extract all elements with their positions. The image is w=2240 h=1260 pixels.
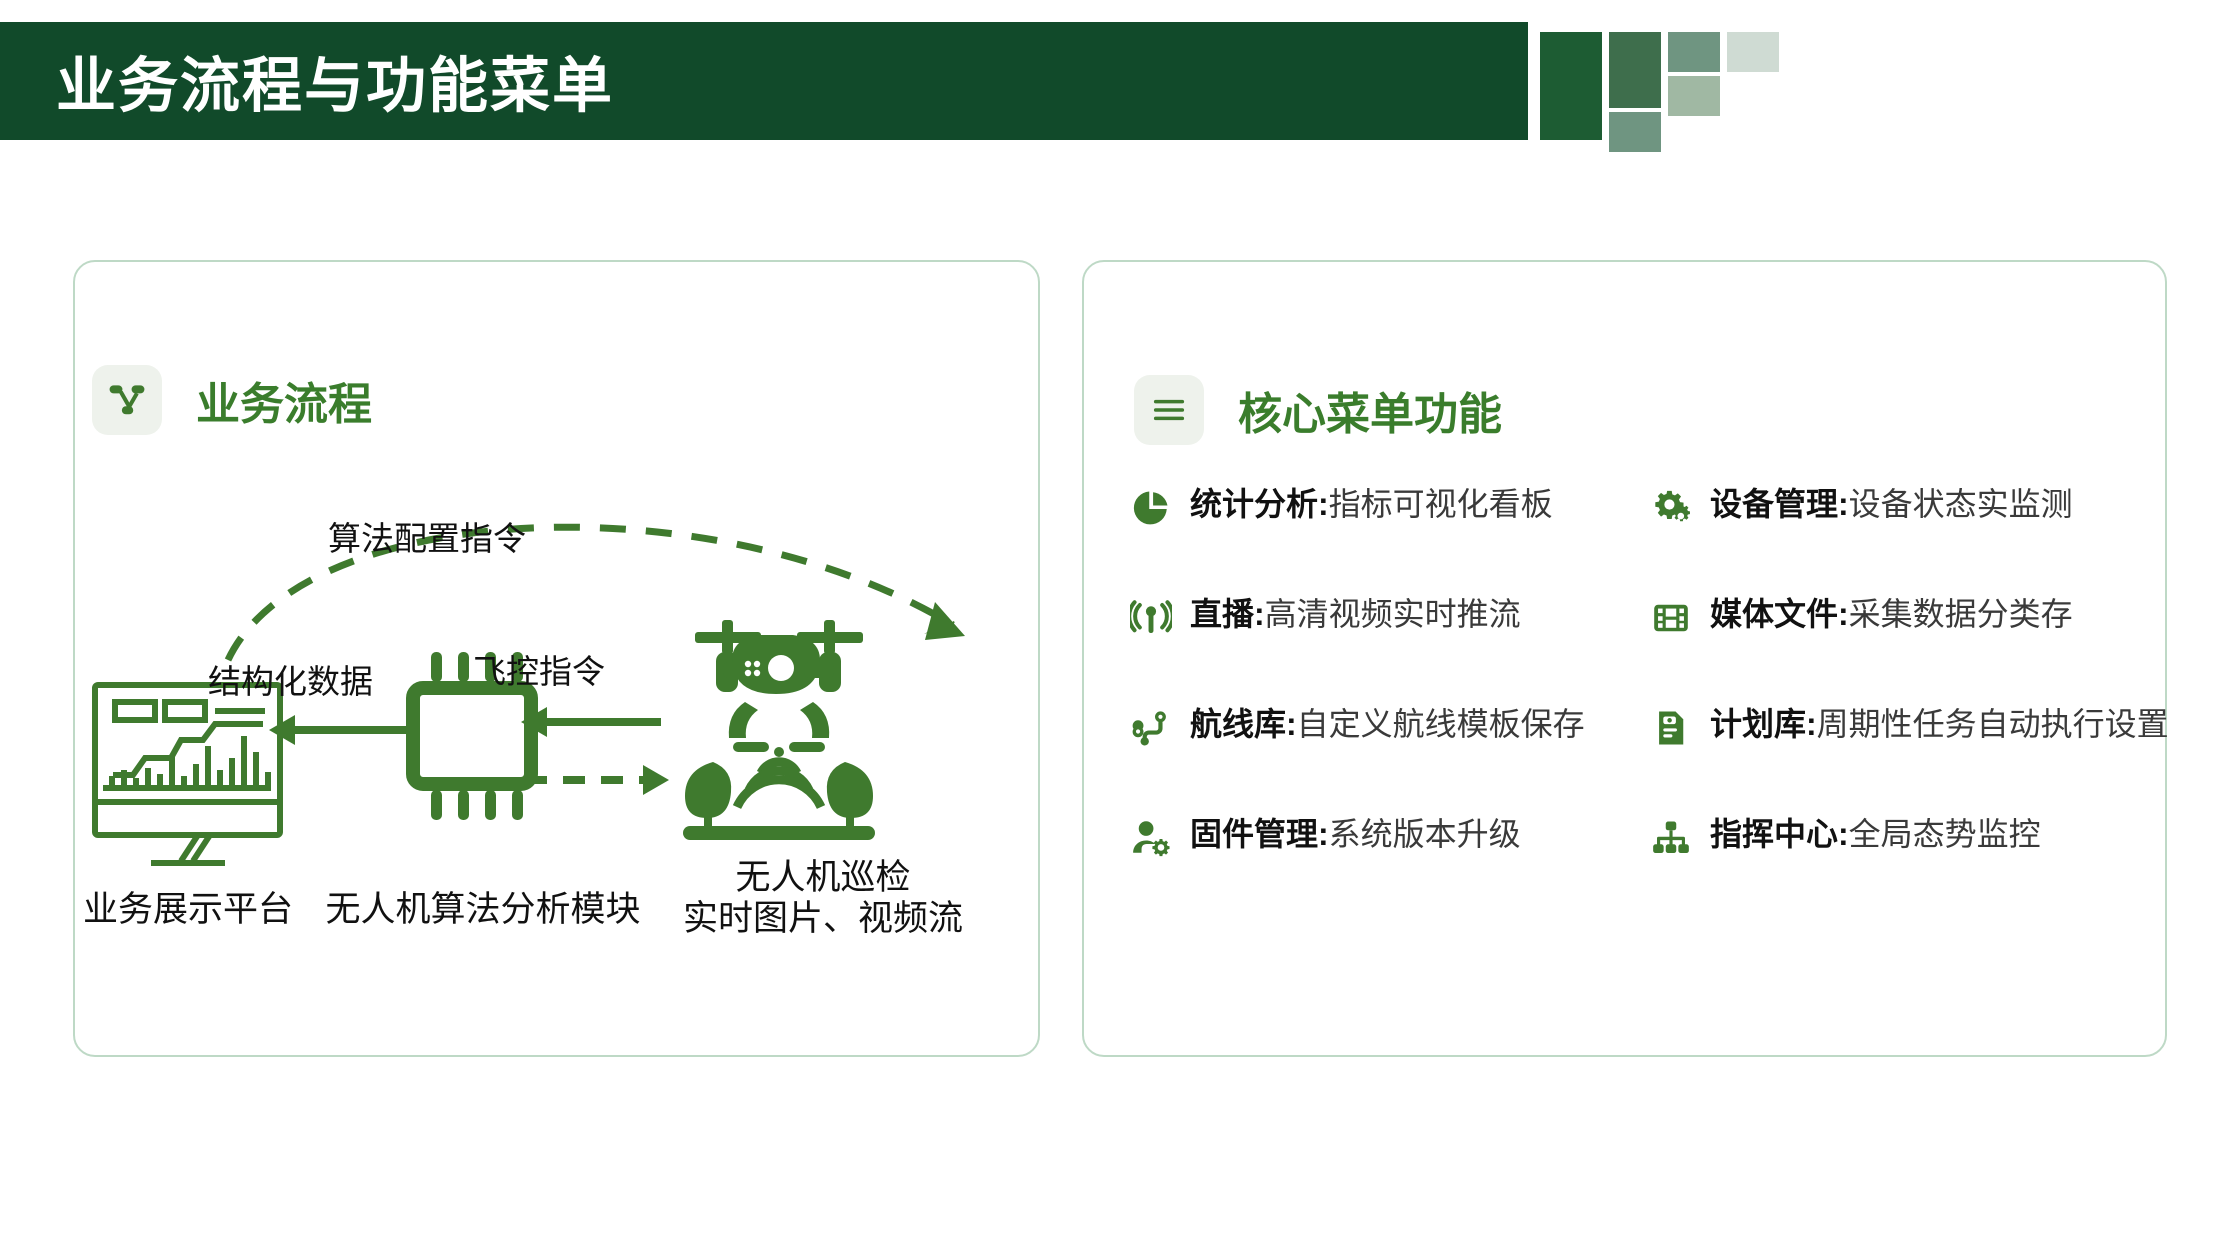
menu-item-value: 设备状态实监测: [1849, 486, 2073, 522]
core-menu-card-header: 核心菜单功能: [1134, 375, 1502, 445]
menu-item-text: 设备管理:设备状态实监测: [1710, 485, 2073, 523]
pie-chart-icon: [1130, 487, 1172, 529]
menu-item-text: 航线库:自定义航线模板保存: [1190, 705, 1585, 743]
menu-item-device-management[interactable]: 设备管理:设备状态实监测: [1650, 485, 2140, 529]
menu-item-sep: :: [1838, 486, 1849, 522]
file-schedule-icon: [1650, 707, 1692, 749]
menu-item-statistics[interactable]: 统计分析:指标可视化看板: [1130, 485, 1650, 529]
node-caption-platform: 业务展示平台: [73, 890, 303, 931]
user-gear-icon: [1130, 817, 1172, 859]
flight-control-arrow: [521, 707, 661, 737]
menu-item-text: 计划库:周期性任务自动执行设置: [1710, 705, 2169, 743]
menu-item-text: 统计分析:指标可视化看板: [1190, 485, 1553, 523]
menu-item-text: 指挥中心:全局态势监控: [1710, 815, 2041, 853]
menu-item-route-library[interactable]: 航线库:自定义航线模板保存: [1130, 705, 1650, 749]
menu-item-key: 航线库: [1190, 706, 1286, 742]
deco-block-3: [1609, 112, 1661, 152]
menu-item-text: 媒体文件:采集数据分类存: [1710, 595, 2073, 633]
menu-item-sep: :: [1838, 816, 1849, 852]
menu-item-value: 采集数据分类存: [1849, 596, 2073, 632]
menu-item-sep: :: [1838, 596, 1849, 632]
menu-item-sep: :: [1286, 706, 1297, 742]
menu-item-value: 系统版本升级: [1329, 816, 1521, 852]
menu-item-text: 直播:高清视频实时推流: [1190, 595, 1521, 633]
share-nodes-icon: [92, 365, 162, 435]
deco-block-5: [1668, 76, 1720, 116]
menu-item-value: 自定义航线模板保存: [1297, 706, 1585, 742]
menu-item-key: 设备管理: [1710, 486, 1838, 522]
deco-block-4: [1668, 32, 1720, 72]
sitemap-icon: [1650, 817, 1692, 859]
menu-item-firmware-management[interactable]: 固件管理:系统版本升级: [1130, 815, 1650, 859]
node-caption-drone: 无人机巡检 实时图片、视频流: [658, 858, 988, 939]
drone-inspection-icon: [683, 620, 875, 840]
node-caption-drone-line2: 实时图片、视频流: [658, 899, 988, 940]
menu-item-value: 指标可视化看板: [1329, 486, 1553, 522]
broadcast-tower-icon: [1130, 597, 1172, 639]
core-menu-card-title: 核心菜单功能: [1238, 378, 1502, 442]
menu-item-plan-library[interactable]: 计划库:周期性任务自动执行设置: [1650, 705, 2140, 749]
node-caption-module: 无人机算法分析模块: [283, 890, 683, 931]
menu-item-value: 全局态势监控: [1849, 816, 2041, 852]
structured-data-arrow: [269, 715, 413, 745]
business-flow-card-header: 业务流程: [92, 365, 372, 435]
gears-icon: [1650, 487, 1692, 529]
core-menu-list: 统计分析:指标可视化看板 设备管理:设备状态实监测 直播:高清视频实时推流: [1130, 485, 2140, 859]
node-caption-drone-line1: 无人机巡检: [658, 858, 988, 899]
menu-item-key: 统计分析: [1190, 486, 1318, 522]
label-flight-control: 飞控指令: [473, 645, 605, 693]
deco-block-2: [1609, 32, 1661, 108]
menu-item-command-center[interactable]: 指挥中心:全局态势监控: [1650, 815, 2140, 859]
business-flow-card-title: 业务流程: [196, 368, 372, 432]
label-algorithm-config: 算法配置指令: [328, 512, 526, 560]
label-structured-data: 结构化数据: [208, 655, 373, 703]
menu-item-key: 媒体文件: [1710, 596, 1838, 632]
monitor-bars: [109, 736, 271, 788]
deco-block-6: [1727, 32, 1779, 72]
menu-item-key: 指挥中心: [1710, 816, 1838, 852]
film-strip-icon: [1650, 597, 1692, 639]
menu-item-live-stream[interactable]: 直播:高清视频实时推流: [1130, 595, 1650, 639]
menu-item-sep: :: [1318, 816, 1329, 852]
menu-item-key: 计划库: [1710, 706, 1806, 742]
deco-block-1: [1540, 32, 1602, 140]
page-title: 业务流程与功能菜单: [56, 38, 614, 125]
menu-item-text: 固件管理:系统版本升级: [1190, 815, 1521, 853]
menu-item-value: 周期性任务自动执行设置: [1817, 706, 2169, 742]
route-icon: [1130, 707, 1172, 749]
media-stream-arrow: [525, 765, 669, 795]
business-flow-diagram: 算法配置指令 结构化数据 飞控指令 业务展示平台 无人机算法分析模块 无人机巡检…: [73, 440, 1040, 960]
menu-item-sep: :: [1806, 706, 1817, 742]
menu-item-key: 固件管理: [1190, 816, 1318, 852]
menu-item-key: 直播: [1190, 596, 1254, 632]
menu-item-media-files[interactable]: 媒体文件:采集数据分类存: [1650, 595, 2140, 639]
hamburger-menu-icon: [1134, 375, 1204, 445]
menu-item-sep: :: [1254, 596, 1265, 632]
menu-item-value: 高清视频实时推流: [1265, 596, 1521, 632]
menu-item-sep: :: [1318, 486, 1329, 522]
header-bar: 业务流程与功能菜单: [0, 22, 1528, 140]
